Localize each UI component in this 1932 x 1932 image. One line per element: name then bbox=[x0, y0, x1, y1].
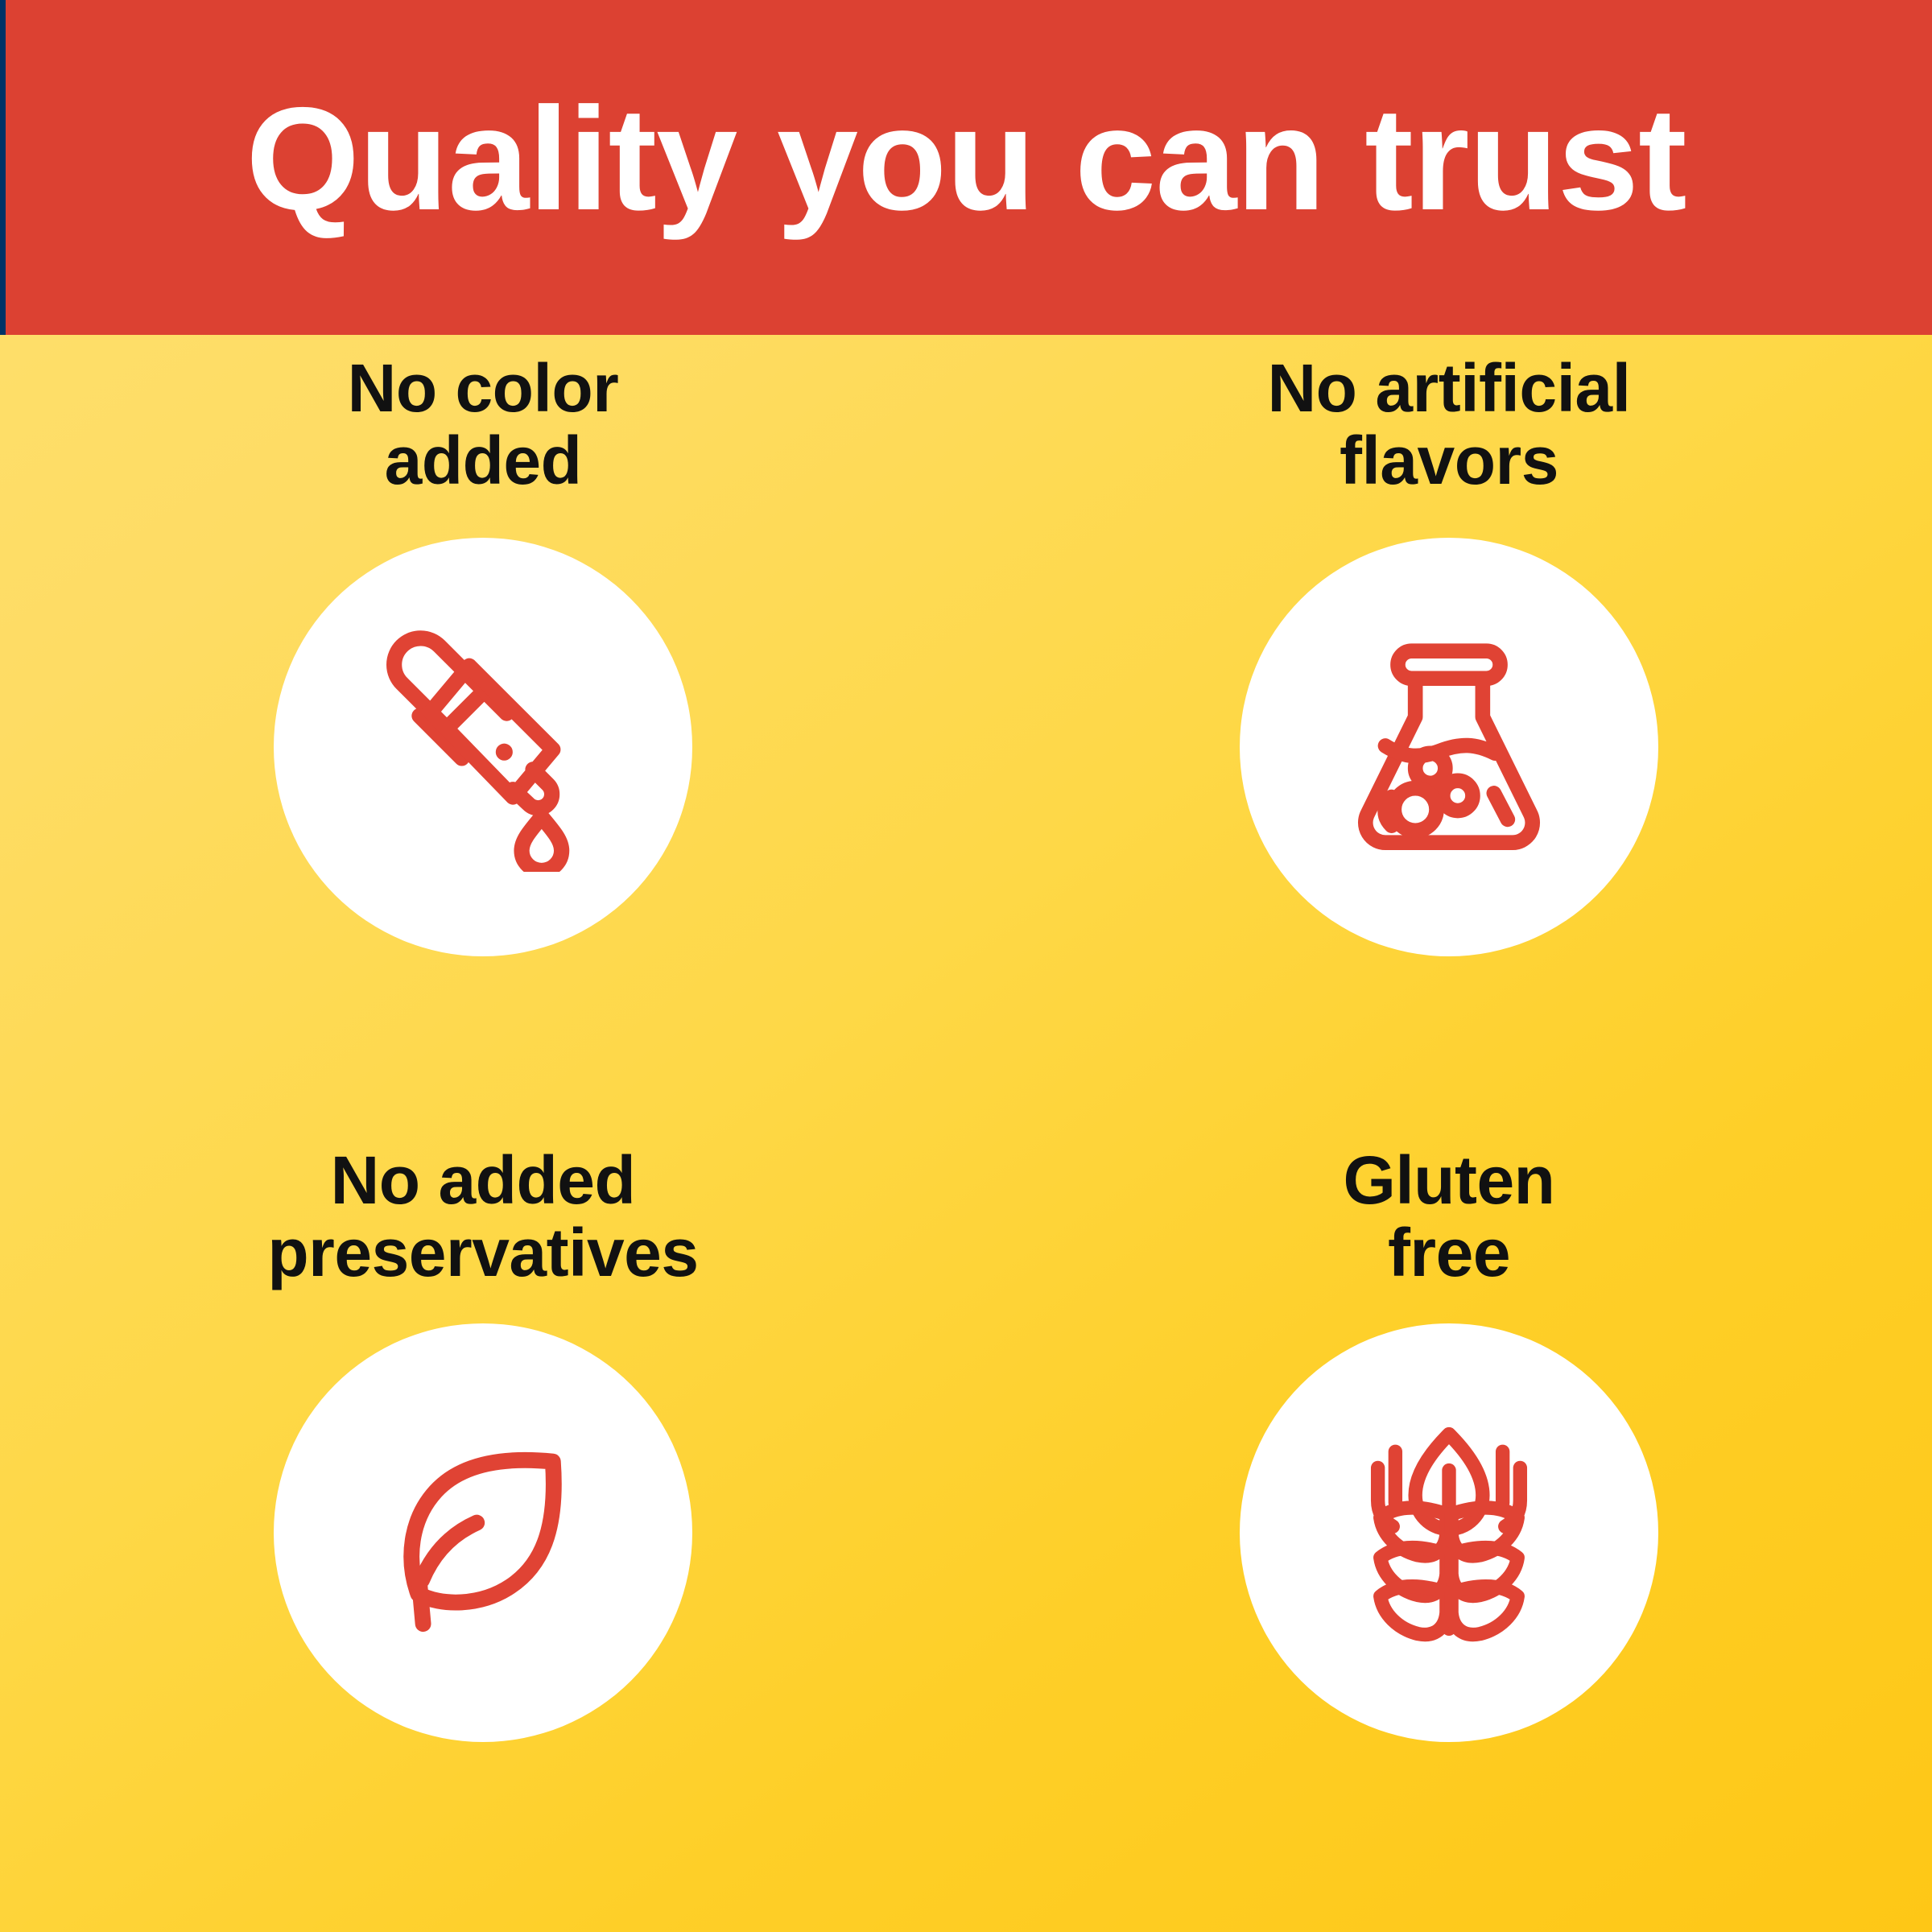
dropper-icon bbox=[358, 622, 608, 872]
page-title: Quality you can trust bbox=[0, 0, 1932, 335]
claim-no-artificial-flavors: No artificial flavors bbox=[966, 335, 1932, 1133]
flask-icon bbox=[1324, 622, 1574, 872]
leaf-icon bbox=[358, 1408, 608, 1657]
claim-label: No added preservatives bbox=[267, 1145, 698, 1290]
claim-label: No color added bbox=[348, 353, 619, 497]
claims-grid: No color added bbox=[0, 335, 1932, 1932]
claim-no-color-added: No color added bbox=[0, 335, 966, 1133]
claim-gluten-free: Gluten free bbox=[966, 1133, 1932, 1932]
claim-label: No artificial flavors bbox=[1268, 353, 1631, 497]
header-banner: Quality you can trust bbox=[0, 0, 1932, 335]
claim-no-added-preservatives: No added preservatives bbox=[0, 1133, 966, 1932]
wheat-icon bbox=[1324, 1408, 1574, 1657]
claim-label: Gluten free bbox=[1344, 1145, 1555, 1290]
claim-badge bbox=[1240, 538, 1658, 956]
promo-panel: Quality you can trust No color added bbox=[0, 0, 1932, 1932]
claim-badge bbox=[274, 538, 692, 956]
claim-badge bbox=[274, 1323, 692, 1742]
claim-badge bbox=[1240, 1323, 1658, 1742]
